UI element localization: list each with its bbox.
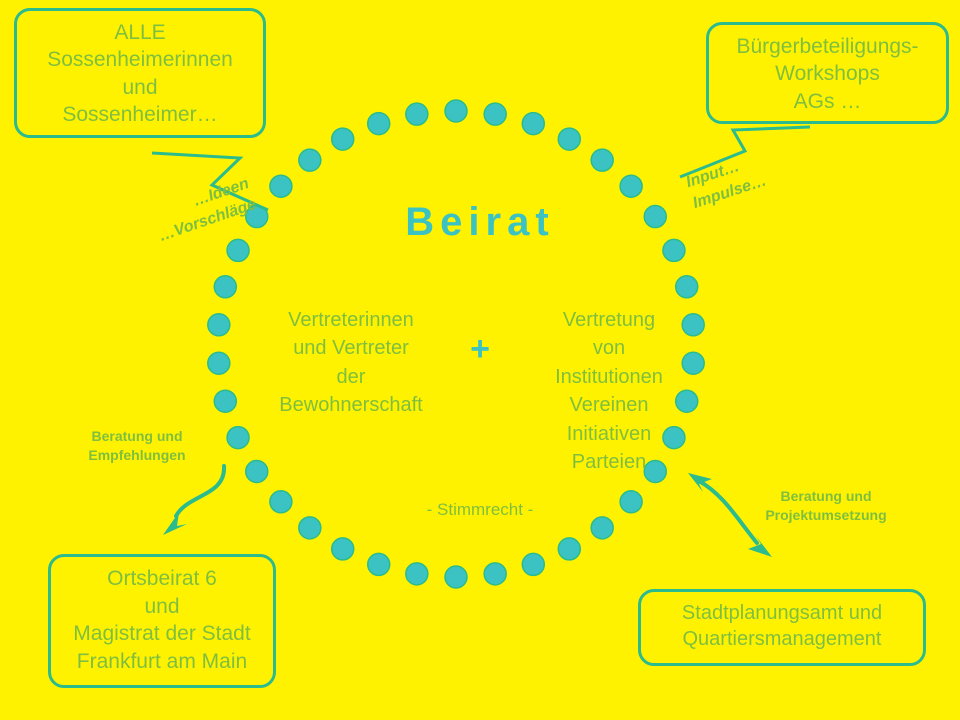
circle-dot <box>591 149 613 171</box>
label-beratung-und-projektumsetzung: Beratung und Projektumsetzung <box>742 487 910 525</box>
center-columns: Vertreterinnen und Vertreter der Bewohne… <box>262 306 698 476</box>
circle-dot <box>332 538 354 560</box>
circle-dot <box>208 352 230 374</box>
circle-dot <box>484 563 506 585</box>
circle-dot <box>368 553 390 575</box>
circle-dot <box>445 100 467 122</box>
circle-dot <box>406 563 428 585</box>
circle-dot <box>332 128 354 150</box>
column-bewohnerschaft: Vertreterinnen und Vertreter der Bewohne… <box>262 306 440 420</box>
speech-bubble-workshops[interactable]: Bürgerbeteiligungs- Workshops AGs … <box>706 22 949 124</box>
circle-dot <box>591 517 613 539</box>
circle-dot <box>558 128 580 150</box>
plus-icon: + <box>454 332 506 366</box>
circle-dot <box>214 276 236 298</box>
label-beratung-und-empfehlungen: Beratung und Empfehlungen <box>62 427 212 465</box>
circle-dot <box>676 276 698 298</box>
circle-dot <box>270 175 292 197</box>
column-institutionen: Vertretung von Institutionen Vereinen In… <box>520 306 698 476</box>
box-ortsbeirat-magistrat[interactable]: Ortsbeirat 6 und Magistrat der Stadt Fra… <box>48 554 276 688</box>
circle-dot <box>299 517 321 539</box>
circle-dot <box>620 175 642 197</box>
circle-dot <box>214 390 236 412</box>
circle-dot <box>522 553 544 575</box>
arrowhead-down-projektumsetzung <box>748 536 772 557</box>
circle-dot <box>227 427 249 449</box>
diagram-canvas: ALLE Sossenheimerinnen und Sossenheimer…… <box>0 0 960 720</box>
speech-bubble-citizens[interactable]: ALLE Sossenheimerinnen und Sossenheimer… <box>14 8 266 138</box>
circle-dot <box>406 103 428 125</box>
circle-dot <box>522 113 544 135</box>
circle-dot <box>208 314 230 336</box>
box-stadtplanungsamt-quartiersmanagement[interactable]: Stadtplanungsamt und Quartiersmanagement <box>638 589 926 666</box>
circle-dot <box>299 149 321 171</box>
circle-dot <box>368 113 390 135</box>
circle-dot <box>445 566 467 588</box>
circle-dot <box>558 538 580 560</box>
circle-dot <box>484 103 506 125</box>
